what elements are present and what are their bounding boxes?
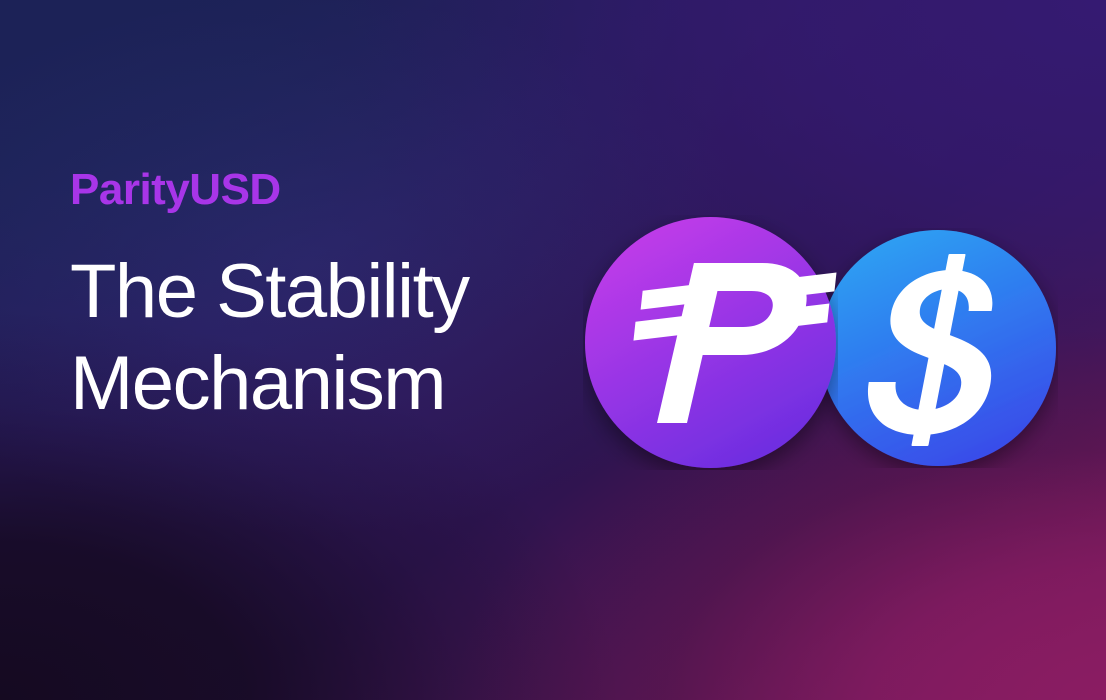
hero-copy: ParityUSD The Stability Mechanism <box>70 168 550 430</box>
parity-p-coin-icon <box>583 215 838 470</box>
hero-slide: ParityUSD The Stability Mechanism <box>0 0 1106 700</box>
page-title: The Stability Mechanism <box>70 246 550 430</box>
headline-line-1: The Stability <box>70 246 550 338</box>
brand-name: ParityUSD <box>70 168 550 212</box>
usd-dollar-coin-icon <box>818 228 1058 468</box>
headline-line-2: Mechanism <box>70 338 550 430</box>
logo-cluster <box>570 200 1070 490</box>
